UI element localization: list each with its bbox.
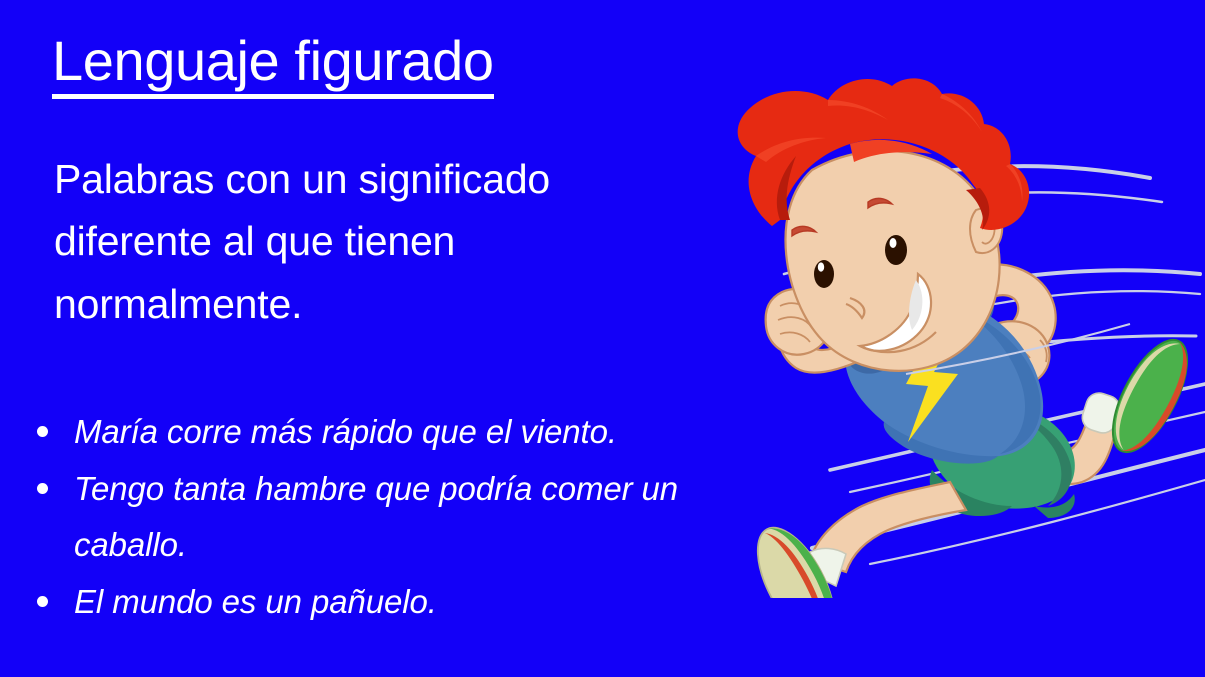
slide-canvas: Lenguaje figurado Palabras con un signif…	[0, 0, 1205, 677]
example-text: El mundo es un pañuelo.	[74, 574, 770, 631]
examples-list: María corre más rápido que el viento. Te…	[30, 404, 770, 630]
text-column: Lenguaje figurado Palabras con un signif…	[0, 0, 780, 677]
running-boy-illustration	[700, 78, 1205, 598]
example-text: María corre más rápido que el viento.	[74, 404, 770, 461]
definition-paragraph: Palabras con un significado diferente al…	[54, 148, 714, 335]
bullet-icon	[37, 596, 48, 607]
eye-icon	[814, 260, 834, 288]
list-item: El mundo es un pañuelo.	[30, 574, 770, 631]
eye-icon	[885, 235, 907, 265]
page-title-text: Lenguaje figurado	[52, 29, 494, 99]
page-title: Lenguaje figurado	[52, 32, 494, 90]
list-item: Tengo tanta hambre que podría comer un c…	[30, 461, 770, 574]
bullet-icon	[37, 426, 48, 437]
example-text: Tengo tanta hambre que podría comer un c…	[74, 461, 770, 574]
front-leg	[742, 482, 966, 598]
bullet-icon	[37, 483, 48, 494]
list-item: María corre más rápido que el viento.	[30, 404, 770, 461]
